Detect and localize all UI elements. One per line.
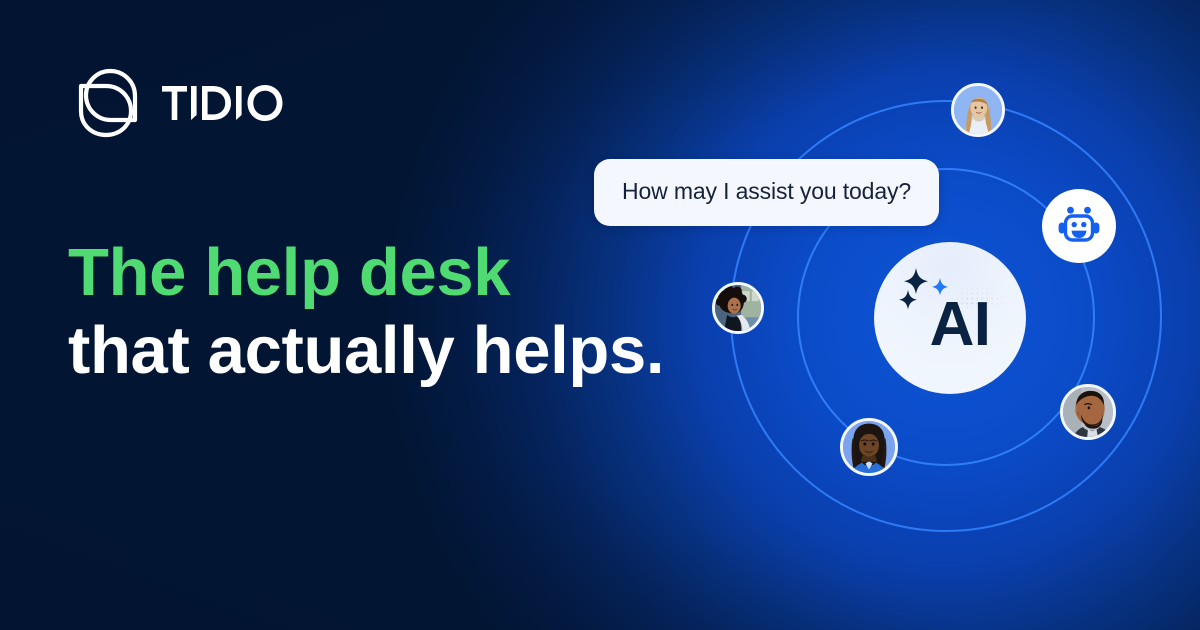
chat-message-bubble: How may I assist you today?: [594, 159, 939, 226]
robot-badge: [1042, 189, 1116, 263]
promo-banner: AI: [0, 0, 1200, 630]
avatar-bearded-man: [1060, 384, 1116, 440]
ai-hub-badge: AI: [874, 242, 1026, 394]
tidio-speech-bubbles-icon: [70, 68, 146, 138]
avatar-curly-hair-woman: [712, 282, 764, 334]
tidio-wordmark: [162, 84, 288, 122]
avatar-blonde-woman: [951, 83, 1005, 137]
headline-line-2: that actually helps.: [68, 316, 664, 386]
tidio-logo[interactable]: [70, 68, 288, 138]
chat-message-text: How may I assist you today?: [622, 178, 911, 204]
page-title: The help desk that actually helps.: [68, 238, 664, 385]
ai-label: AI: [930, 289, 991, 360]
robot-face-icon: [1058, 206, 1100, 246]
avatar-man-with-locs: [840, 418, 898, 476]
headline-line-1: The help desk: [68, 238, 664, 308]
